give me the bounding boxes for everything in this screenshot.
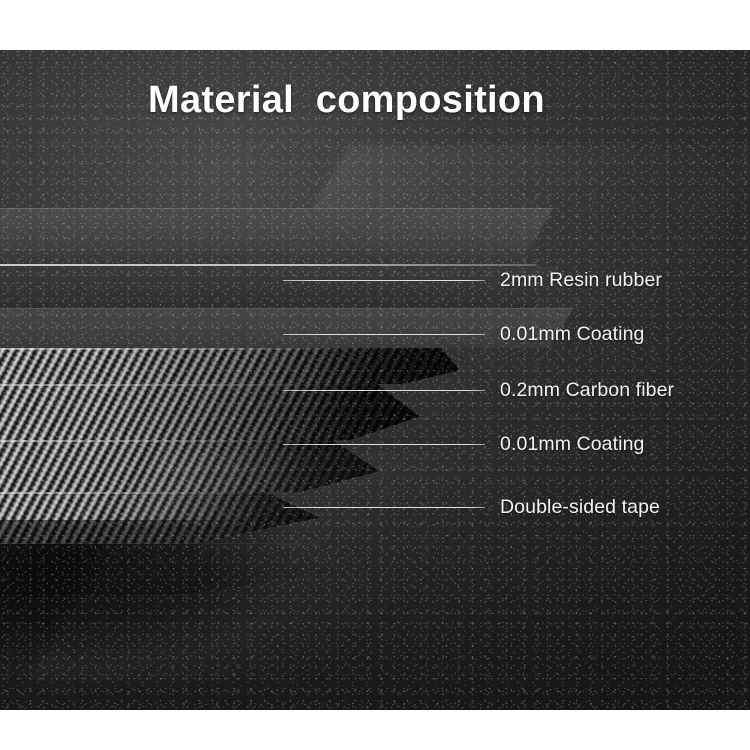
leader-line-icon <box>283 280 485 281</box>
callout-label-coating-bottom: 0.01mm Coating <box>500 433 644 456</box>
leader-line-icon <box>283 334 485 335</box>
callout-double-sided-tape: Double-sided tape <box>283 495 660 519</box>
page-title: Material composition <box>148 79 545 122</box>
leader-line-icon <box>283 507 485 508</box>
callout-coating-top: 0.01mm Coating <box>283 322 644 346</box>
callout-coating-bottom: 0.01mm Coating <box>283 432 644 456</box>
callout-label-resin-rubber: 2mm Resin rubber <box>500 269 662 292</box>
callout-label-carbon-fiber: 0.2mm Carbon fiber <box>500 379 674 402</box>
callout-label-double-sided-tape: Double-sided tape <box>500 496 660 519</box>
callout-carbon-fiber: 0.2mm Carbon fiber <box>283 378 674 402</box>
callout-resin-rubber: 2mm Resin rubber <box>283 268 662 292</box>
leader-line-icon <box>283 444 485 445</box>
product-infographic: Material composition 2mm Resin rubber 0.… <box>0 0 750 750</box>
callout-label-coating-top: 0.01mm Coating <box>500 323 644 346</box>
leader-line-icon <box>283 390 485 391</box>
